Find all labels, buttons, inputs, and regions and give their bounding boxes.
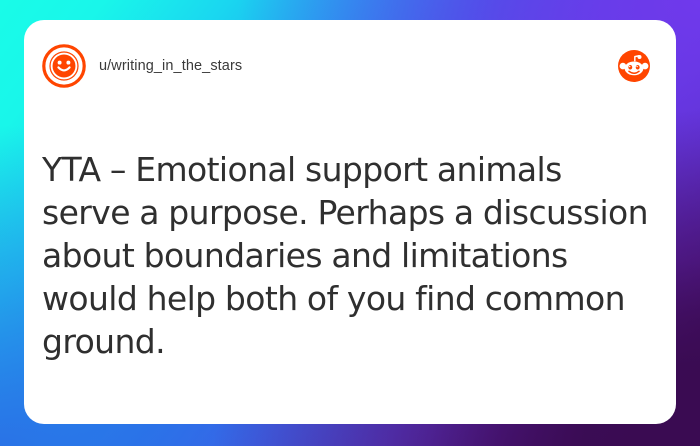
screenshot-canvas: u/writing_in_the_stars: [0, 0, 700, 446]
reddit-comment-card: u/writing_in_the_stars: [24, 20, 676, 424]
reddit-snoo-logo-icon[interactable]: [618, 50, 650, 82]
comment-text: YTA – Emotional support animals serve a …: [42, 148, 658, 363]
username-label[interactable]: u/writing_in_the_stars: [99, 58, 242, 74]
card-body: YTA – Emotional support animals serve a …: [42, 148, 658, 363]
card-header: u/writing_in_the_stars: [24, 20, 676, 112]
smiley-face-avatar-icon[interactable]: [42, 44, 86, 88]
